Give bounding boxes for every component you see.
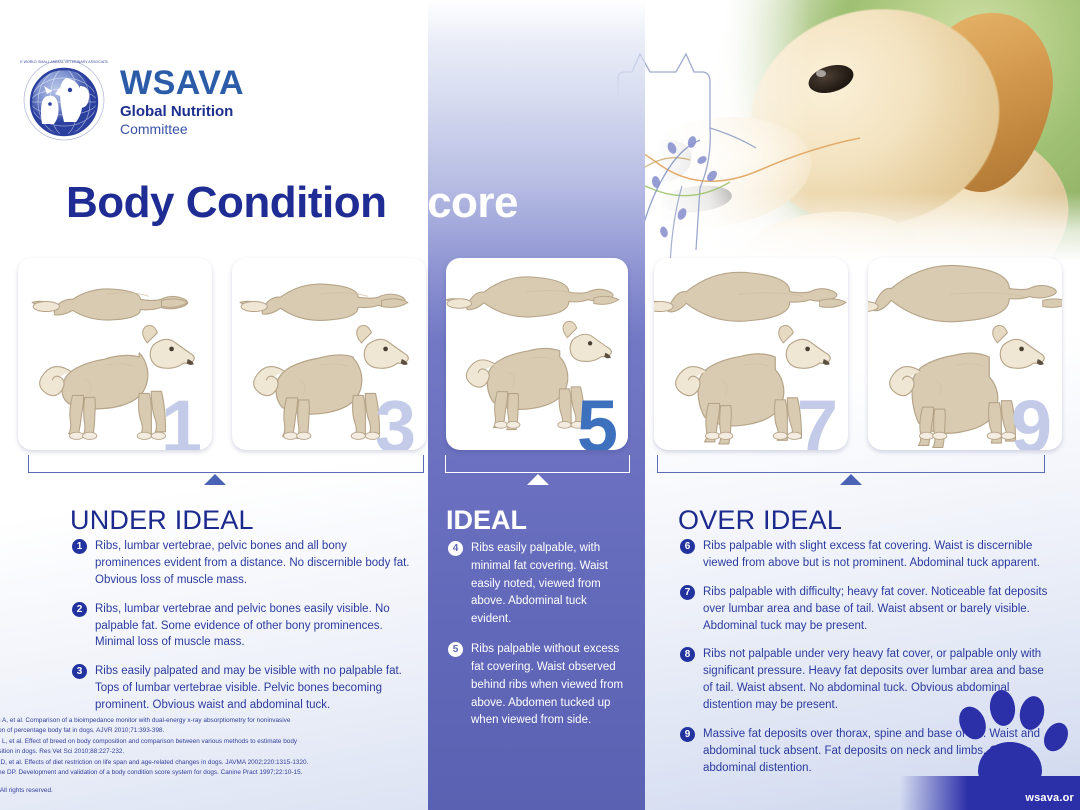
reference-line: mation of percentage body fat in dogs. A… <box>0 726 406 736</box>
bcs-badge-9: 9 <box>680 727 695 742</box>
score-card-1[interactable]: 1 <box>18 258 212 450</box>
reference-line: lamme DP. Development and validation of … <box>0 768 406 778</box>
score-number: 3 <box>375 390 416 450</box>
bcs-badge-4: 4 <box>448 541 463 556</box>
copyright-text: 019. All rights reserved. <box>0 787 406 794</box>
under-ideal-list: 1Ribs, lumbar vertebrae, pelvic bones an… <box>72 538 412 726</box>
bcs-item-4: 4Ribs easily palpable, with minimal fat … <box>448 540 626 629</box>
bcs-item-text: Ribs palpable with difficulty; heavy fat… <box>703 584 1052 635</box>
paw-print-icon <box>950 676 1070 792</box>
logo-line-3: Committee <box>120 121 244 138</box>
bcs-poster: THE WORLD SMALL ANIMAL VETERINARY ASSOCI… <box>0 0 1080 810</box>
over-ideal-arrow-icon <box>840 474 862 485</box>
page-title-light: Score <box>398 178 518 227</box>
score-number: 9 <box>1011 390 1052 450</box>
ideal-heading: IDEAL <box>446 505 527 536</box>
bcs-item-text: Ribs palpable with slight excess fat cov… <box>703 538 1052 572</box>
wsava-url[interactable]: wsava.or <box>1025 792 1074 804</box>
bcs-item-5: 5Ribs palpable without excess fat coveri… <box>448 641 626 730</box>
bcs-badge-6: 6 <box>680 539 695 554</box>
references-block: rman A, et al. Comparison of a bioimpeda… <box>0 716 406 794</box>
bcs-item-2: 2Ribs, lumbar vertebrae and pelvic bones… <box>72 601 412 652</box>
score-number: 1 <box>161 390 202 450</box>
under-ideal-bracket <box>28 455 424 473</box>
score-card-3[interactable]: 3 <box>232 258 426 450</box>
page-title: Body Condition Score <box>66 178 518 228</box>
score-card-7[interactable]: 7 <box>654 258 848 450</box>
wsava-globe-dog-cat-logo-icon: THE WORLD SMALL ANIMAL VETERINARY ASSOCI… <box>20 56 108 144</box>
ideal-bracket <box>445 455 630 473</box>
logo-line-2: Global Nutrition <box>120 103 244 122</box>
bcs-item-text: Ribs easily palpable, with minimal fat c… <box>471 540 626 629</box>
ideal-list: 4Ribs easily palpable, with minimal fat … <box>448 540 626 742</box>
ideal-arrow-icon <box>527 474 549 485</box>
bcs-badge-2: 2 <box>72 602 87 617</box>
bcs-badge-1: 1 <box>72 539 87 554</box>
bcs-item-1: 1Ribs, lumbar vertebrae, pelvic bones an… <box>72 538 412 589</box>
bcs-item-3: 3Ribs easily palpated and may be visible… <box>72 663 412 714</box>
page-title-dark: Body Condition <box>66 178 387 227</box>
over-ideal-heading: OVER IDEAL <box>678 505 842 536</box>
bcs-item-text: Ribs, lumbar vertebrae and pelvic bones … <box>95 601 412 652</box>
bcs-item-7: 7Ribs palpable with difficulty; heavy fa… <box>680 584 1052 635</box>
logo-wsava-text: WSAVA <box>120 66 244 100</box>
bcs-badge-5: 5 <box>448 642 463 657</box>
bcs-item-6: 6Ribs palpable with slight excess fat co… <box>680 538 1052 572</box>
reference-line: mposition in dogs. Res Vet Sci 2010;88:2… <box>0 747 406 757</box>
bcs-item-text: Ribs, lumbar vertebrae, pelvic bones and… <box>95 538 412 589</box>
bcs-item-text: Ribs palpable without excess fat coverin… <box>471 641 626 730</box>
score-card-9[interactable]: 9 <box>868 258 1062 450</box>
wsava-logo: THE WORLD SMALL ANIMAL VETERINARY ASSOCI… <box>20 56 244 144</box>
over-ideal-bracket <box>657 455 1045 473</box>
reference-line: aly RD, et al. Effects of diet restricti… <box>0 758 406 768</box>
score-number: 7 <box>797 390 838 450</box>
bcs-badge-7: 7 <box>680 585 695 600</box>
reference-line: uette L, et al. Effect of breed on body … <box>0 737 406 747</box>
bcs-item-text: Ribs easily palpated and may be visible … <box>95 663 412 714</box>
reference-line: rman A, et al. Comparison of a bioimpeda… <box>0 716 406 726</box>
under-ideal-arrow-icon <box>204 474 226 485</box>
score-number: 5 <box>577 390 618 450</box>
score-card-5[interactable]: 5 <box>446 258 628 450</box>
bcs-badge-8: 8 <box>680 647 695 662</box>
svg-text:THE WORLD SMALL ANIMAL VETERIN: THE WORLD SMALL ANIMAL VETERINARY ASSOCI… <box>20 60 108 64</box>
under-ideal-heading: UNDER IDEAL <box>70 505 254 536</box>
bcs-badge-3: 3 <box>72 664 87 679</box>
